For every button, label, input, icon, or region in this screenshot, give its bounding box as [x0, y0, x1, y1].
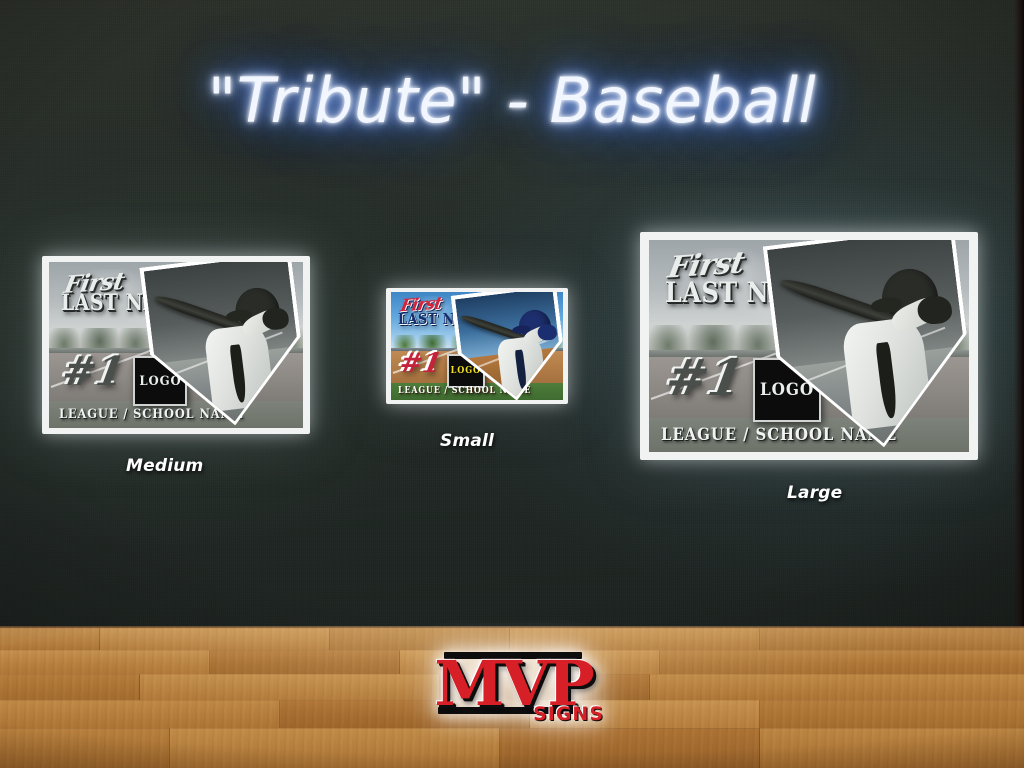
sign-medium[interactable]: First LAST NAME #1 LOGO LEAGUE / SCHOOL …: [42, 256, 310, 434]
sign-jersey-number: #1: [397, 348, 444, 379]
photo-image: [144, 262, 303, 428]
page-title: "Tribute" - Baseball: [0, 64, 1024, 137]
sign-jersey-number: #1: [662, 348, 749, 407]
sign-photo-inset: [763, 240, 969, 452]
size-label-medium: Medium: [126, 456, 203, 476]
sign-small[interactable]: First LAST NAME #1 LOGO LEAGUE / SCHOOL …: [386, 288, 568, 404]
photo-image: [767, 240, 969, 452]
slide-canvas: "Tribute" - Baseball First LAST NAME #1 …: [0, 0, 1024, 768]
sign-artwork: First LAST NAME #1 LOGO LEAGUE / SCHOOL …: [49, 262, 303, 428]
sign-large[interactable]: First LAST NAME #1 LOGO LEAGUE / SCHOOL …: [640, 232, 978, 460]
size-label-small: Small: [440, 431, 494, 451]
sign-artwork: First LAST NAME #1 LOGO LEAGUE / SCHOOL …: [391, 292, 563, 400]
sign-photo-inset: [451, 292, 563, 400]
logo-plate: MVP SIGNS: [432, 645, 610, 731]
sign-photo-inset: [139, 262, 303, 428]
sign-artwork: First LAST NAME #1 LOGO LEAGUE / SCHOOL …: [649, 240, 969, 452]
size-label-large: Large: [787, 483, 842, 503]
mvp-signs-logo[interactable]: MVP SIGNS: [432, 645, 610, 731]
logo-tagline: SIGNS: [533, 703, 604, 725]
sign-jersey-number: #1: [59, 348, 129, 395]
photo-image: [455, 292, 563, 400]
